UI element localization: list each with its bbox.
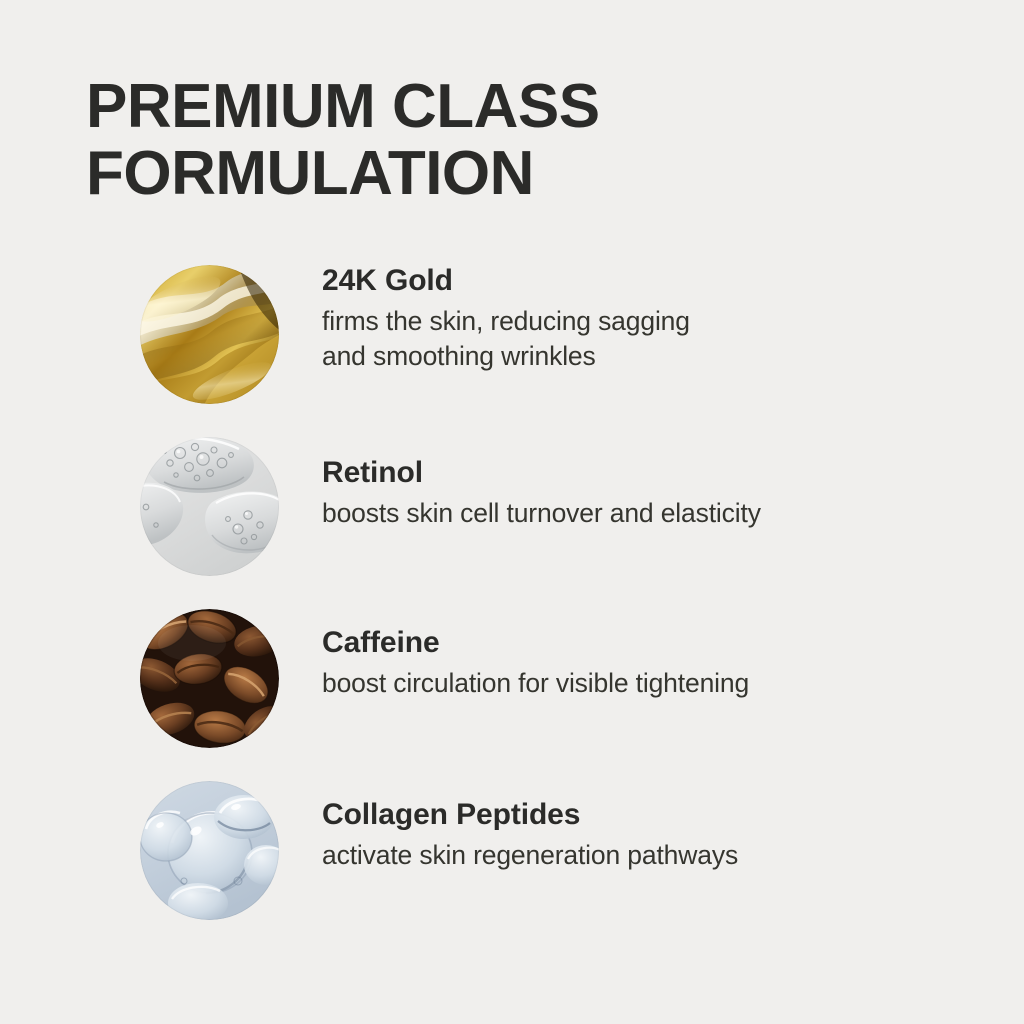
ingredient-description: boost circulation for visible tightening [322, 666, 982, 700]
list-item: 24K Gold firms the skin, reducing saggin… [0, 255, 1024, 427]
list-item: Collagen Peptides activate skin regenera… [0, 771, 1024, 943]
ingredient-description: boosts skin cell turnover and elasticity [322, 496, 982, 530]
ingredient-description: firms the skin, reducing sagging and smo… [322, 304, 982, 373]
ingredient-text-block: 24K Gold firms the skin, reducing saggin… [322, 263, 982, 373]
ingredient-text-block: Collagen Peptides activate skin regenera… [322, 797, 982, 873]
page-title-line-1: PREMIUM CLASS [86, 74, 846, 141]
ingredient-thumbnail-wrapper [140, 781, 279, 920]
ingredient-title: Caffeine [322, 625, 982, 660]
ingredient-thumbnail-wrapper [140, 265, 279, 404]
page-title: PREMIUM CLASS FORMULATION [86, 74, 846, 208]
premium-formulation-infographic: PREMIUM CLASS FORMULATION [0, 0, 1024, 1024]
ingredient-title: Retinol [322, 455, 982, 490]
list-item: Retinol boosts skin cell turnover and el… [0, 427, 1024, 599]
gold-silk-thumbnail [140, 265, 279, 404]
roasted-coffee-beans-thumbnail [140, 609, 279, 748]
ingredient-text-block: Caffeine boost circulation for visible t… [322, 625, 982, 701]
clear-gel-droplets-thumbnail [140, 437, 279, 576]
ingredient-title: 24K Gold [322, 263, 982, 298]
ingredient-thumbnail-wrapper [140, 437, 279, 576]
ingredient-title: Collagen Peptides [322, 797, 982, 832]
ingredient-description: activate skin regeneration pathways [322, 838, 982, 872]
ingredient-thumbnail-wrapper [140, 609, 279, 748]
ingredient-list: 24K Gold firms the skin, reducing saggin… [0, 255, 1024, 943]
water-droplet-bubbles-thumbnail [140, 781, 279, 920]
ingredient-text-block: Retinol boosts skin cell turnover and el… [322, 455, 982, 531]
list-item: Caffeine boost circulation for visible t… [0, 599, 1024, 771]
page-title-line-2: FORMULATION [86, 141, 846, 208]
